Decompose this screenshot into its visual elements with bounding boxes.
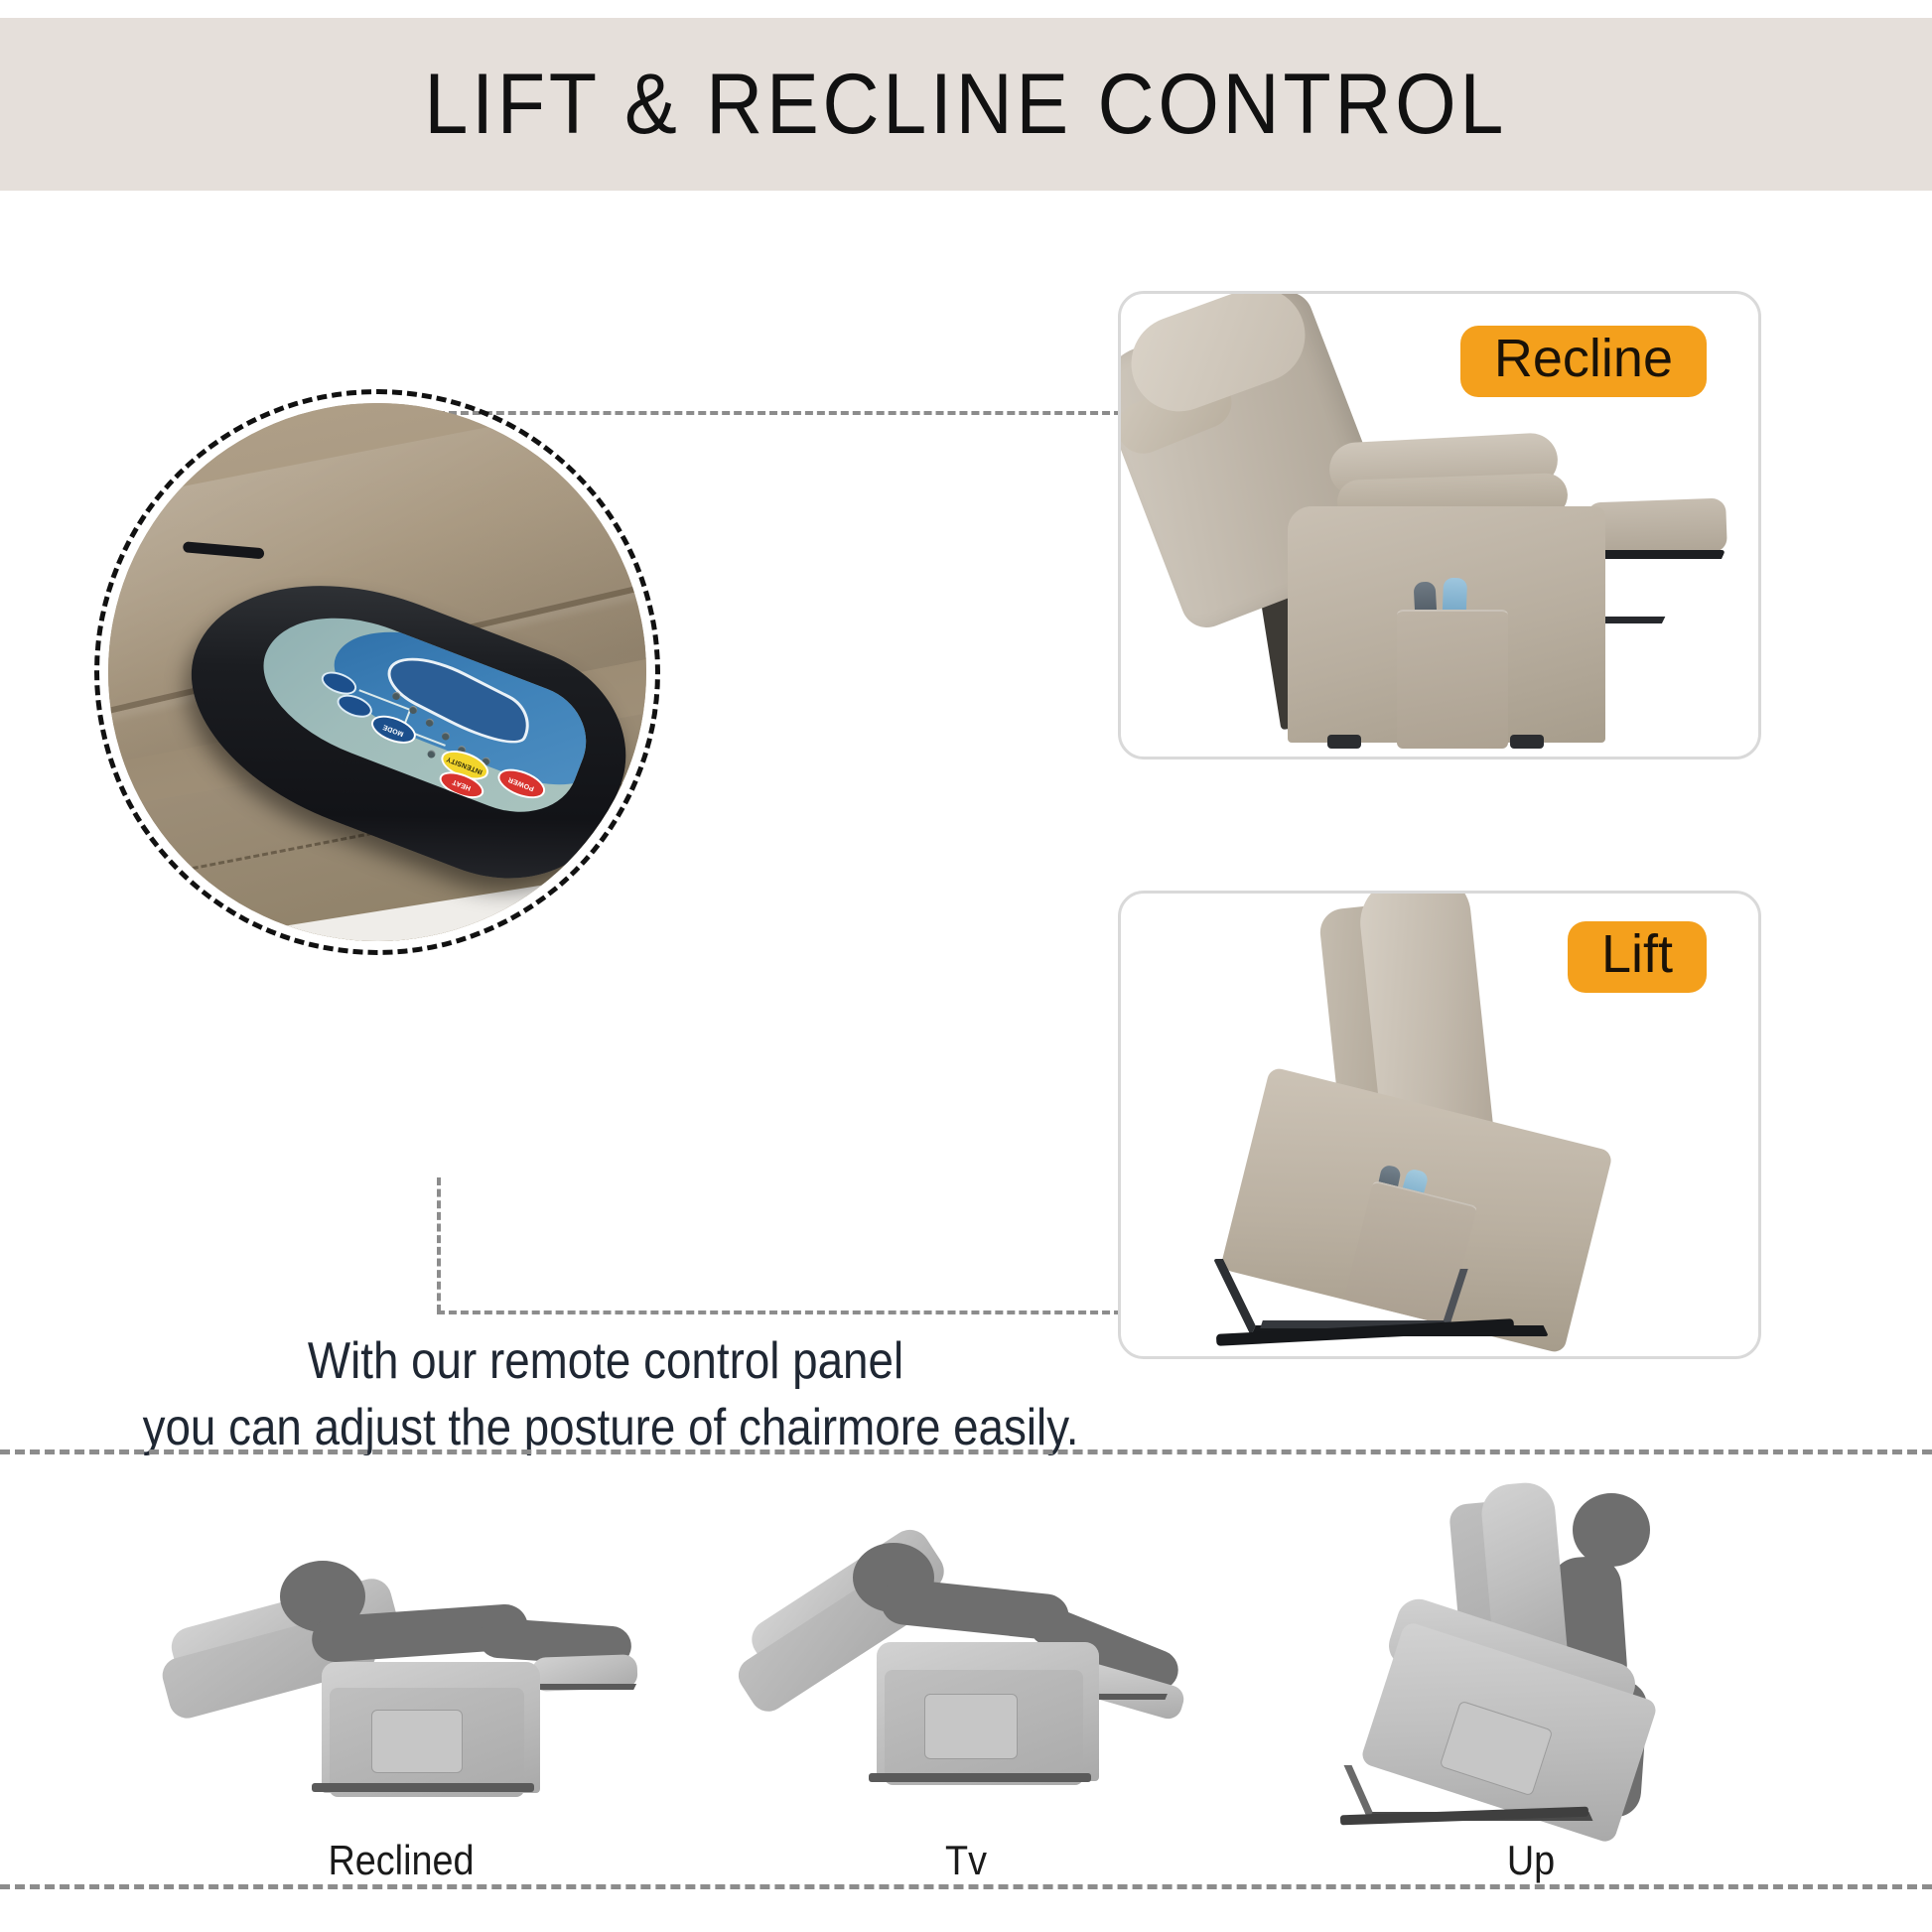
lift-chair-lift-scissor xyxy=(1260,1269,1467,1328)
lift-card: Lift xyxy=(1118,891,1761,1359)
tv-illustration xyxy=(728,1499,1204,1827)
lift-badge[interactable]: Lift xyxy=(1568,921,1707,993)
up-person-head xyxy=(1573,1493,1650,1567)
recline-chair-footrest xyxy=(1587,498,1727,557)
remote-cable xyxy=(183,542,264,560)
position-label-up: Up xyxy=(1316,1837,1745,1884)
remote-closeup-circle: MODE INTENSITY POWER HEAT xyxy=(94,389,660,955)
position-item-up: Up xyxy=(1293,1467,1769,1884)
recline-card: Recline xyxy=(1118,291,1761,759)
tv-side-pocket xyxy=(924,1694,1018,1759)
recline-chair-foot-front xyxy=(1327,735,1361,749)
reclined-side-pocket xyxy=(371,1710,463,1773)
led-low xyxy=(427,750,437,759)
reclined-illustration xyxy=(163,1499,639,1827)
section-divider-top xyxy=(0,1449,1932,1454)
position-label-tv: Tv xyxy=(752,1837,1180,1884)
reclined-base-bar xyxy=(312,1783,534,1792)
page-title: LIFT & RECLINE CONTROL xyxy=(425,56,1508,154)
remote-closeup-photo: MODE INTENSITY POWER HEAT xyxy=(108,403,646,941)
position-row: Reclined Tv xyxy=(0,1467,1932,1884)
recline-badge[interactable]: Recline xyxy=(1460,326,1707,397)
up-illustration xyxy=(1293,1499,1769,1827)
section-divider-bottom xyxy=(0,1884,1932,1889)
position-item-tv: Tv xyxy=(728,1467,1204,1884)
recline-chair-foot-rear xyxy=(1510,735,1544,749)
infographic-page: LIFT & RECLINE CONTROL xyxy=(0,0,1932,1932)
recline-chair-side-pocket xyxy=(1397,610,1508,749)
position-label-reclined: Reclined xyxy=(187,1837,616,1884)
caption-line-1: With our remote control panel xyxy=(143,1328,1069,1395)
caption-block: With our remote control panel you can ad… xyxy=(143,1328,1069,1460)
connector-bottom-vertical xyxy=(437,1177,441,1312)
header-banner: LIFT & RECLINE CONTROL xyxy=(0,18,1932,191)
tv-base-bar xyxy=(869,1773,1091,1782)
position-item-reclined: Reclined xyxy=(163,1467,639,1884)
connector-bottom-horizontal xyxy=(437,1311,1122,1314)
